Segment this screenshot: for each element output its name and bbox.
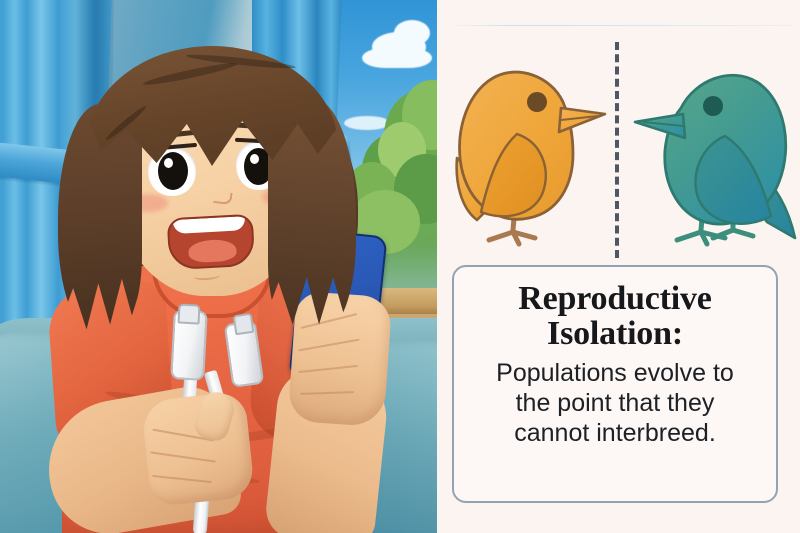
girl-character bbox=[0, 0, 437, 533]
screenshot-root: Reproductive Isolation: Populations evol… bbox=[0, 0, 800, 533]
pupil-left bbox=[158, 152, 188, 190]
card-heading-line1: Reproductive bbox=[518, 280, 711, 317]
reproductive-barrier-divider bbox=[615, 42, 619, 258]
card-body-line1: Populations evolve to bbox=[496, 359, 734, 387]
hand-holding-phone bbox=[288, 291, 393, 427]
eye-glint-left bbox=[164, 158, 173, 168]
hand-holding-cable bbox=[141, 391, 256, 507]
card-heading-line2: Isolation: bbox=[547, 315, 683, 352]
lightning-connector-tip bbox=[233, 313, 255, 335]
bird-teal-illustration bbox=[629, 52, 797, 262]
bird-orange-illustration bbox=[455, 50, 611, 262]
card-body: Populations evolve to the point that the… bbox=[466, 358, 764, 448]
card-heading: Reproductive Isolation: bbox=[466, 281, 764, 352]
tongue bbox=[188, 239, 237, 263]
card-body-line2: the point that they bbox=[516, 389, 715, 417]
card-body-line3: cannot interbreed. bbox=[514, 419, 716, 447]
usb-c-connector-tip bbox=[177, 303, 200, 324]
concept-text-card: Reproductive Isolation: Populations evol… bbox=[452, 265, 778, 503]
teeth bbox=[173, 216, 246, 234]
anime-illustration-panel bbox=[0, 0, 437, 533]
eye-glint-right bbox=[250, 154, 259, 164]
concept-card-panel: Reproductive Isolation: Populations evol… bbox=[437, 0, 800, 533]
top-divider-rule bbox=[447, 25, 792, 26]
mouth-smiling bbox=[167, 214, 256, 270]
